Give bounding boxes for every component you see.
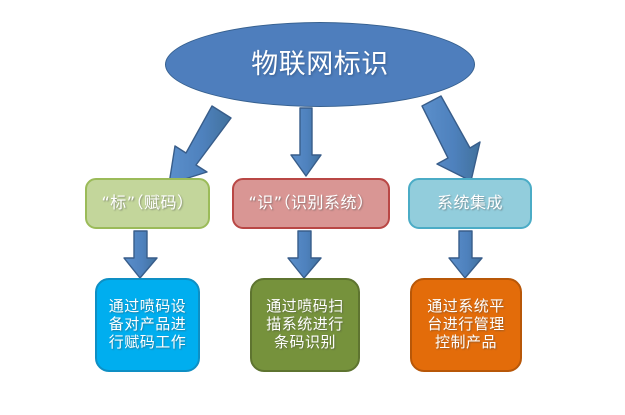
branch-node-shi-recognition-system[interactable]: “识”（识别系统） <box>232 178 390 229</box>
detail-line: 控制产品 <box>427 334 505 352</box>
arrow-root-to-branch-0 <box>169 106 231 184</box>
diagram-canvas: 物联网标识 “标”（赋码） “识”（识别系统） 系统集成 通过喷码设 备对产品进… <box>0 0 625 415</box>
detail-line: 描系统进行 <box>266 316 344 334</box>
detail-node-platform-management[interactable]: 通过系统平 台进行管理 控制产品 <box>410 278 522 372</box>
detail-line: 备对产品进 <box>109 316 187 334</box>
detail-node-text: 通过系统平 台进行管理 控制产品 <box>427 298 505 351</box>
branch-node-system-integration[interactable]: 系统集成 <box>408 178 532 229</box>
detail-node-coding-equipment[interactable]: 通过喷码设 备对产品进 行赋码工作 <box>95 278 200 372</box>
arrow-branch-1-to-detail-1 <box>288 231 321 278</box>
detail-line: 通过喷码设 <box>109 298 187 316</box>
detail-node-text: 通过喷码设 备对产品进 行赋码工作 <box>109 298 187 351</box>
detail-line: 通过喷码扫 <box>266 298 344 316</box>
detail-line: 条码识别 <box>266 334 344 352</box>
arrow-branch-2-to-detail-2 <box>449 231 482 278</box>
arrow-root-to-branch-2 <box>422 96 480 181</box>
detail-line: 台进行管理 <box>427 316 505 334</box>
arrow-branch-0-to-detail-0 <box>124 231 157 278</box>
detail-node-text: 通过喷码扫 描系统进行 条码识别 <box>266 298 344 351</box>
arrow-root-to-branch-1 <box>291 108 321 176</box>
detail-node-scanning-barcode[interactable]: 通过喷码扫 描系统进行 条码识别 <box>250 278 360 372</box>
detail-line: 行赋码工作 <box>109 334 187 352</box>
detail-line: 通过系统平 <box>427 298 505 316</box>
branch-node-biao-coding[interactable]: “标”（赋码） <box>85 178 210 229</box>
root-node-iot-identification[interactable]: 物联网标识 <box>165 22 475 107</box>
